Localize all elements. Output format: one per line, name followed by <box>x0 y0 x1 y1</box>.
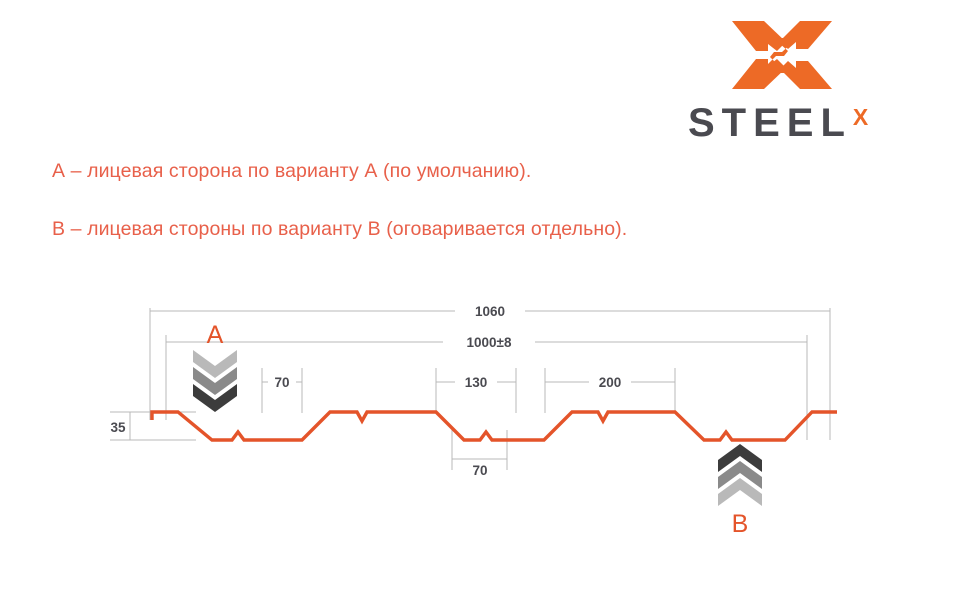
profile-outline <box>152 412 837 440</box>
marker-a: A <box>193 321 237 412</box>
brand-logo: STEELX <box>688 16 906 144</box>
dim-label-130: 130 <box>465 375 488 390</box>
profile-technical-drawing: 1060 1000±8 70 130 200 70 35 A B <box>0 280 970 570</box>
caption-variant-b: В – лицевая стороны по варианту В (огова… <box>52 218 627 241</box>
marker-a-label: A <box>207 321 224 349</box>
dim-label-1000: 1000±8 <box>467 335 512 350</box>
logo-word-steel: STEEL <box>688 101 852 145</box>
dim-label-35: 35 <box>110 420 126 435</box>
logo-wordmark: STEELX <box>688 102 906 144</box>
logo-superscript-x: X <box>853 104 868 130</box>
marker-b: B <box>718 444 762 538</box>
marker-b-label: B <box>732 510 749 538</box>
caption-variant-a: А – лицевая сторона по варианту А (по ум… <box>52 160 531 183</box>
dim-label-1060: 1060 <box>475 304 505 319</box>
dim-label-200: 200 <box>599 375 622 390</box>
dim-label-70-top: 70 <box>274 375 289 390</box>
dim-label-70-bottom: 70 <box>472 463 487 478</box>
steelx-x-mark-icon <box>730 16 834 94</box>
